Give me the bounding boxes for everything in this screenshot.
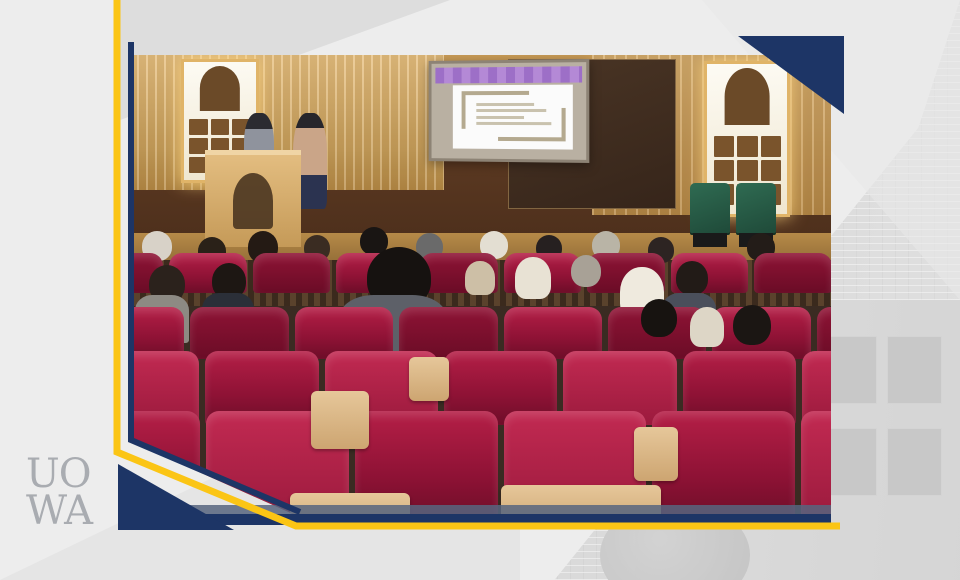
- banner-canvas: UO WA: [0, 0, 960, 580]
- presentation-slide-screen: [428, 59, 588, 163]
- green-chair-2: [736, 183, 776, 233]
- seat-writing-tray: [634, 427, 678, 481]
- slide-text-line: [476, 103, 534, 106]
- slide-app-toolbar: [435, 66, 581, 83]
- slide-text-line: [476, 116, 524, 119]
- auditorium-seat: [754, 253, 831, 293]
- audience-headscarf: [690, 307, 724, 347]
- slide-text-line: [476, 109, 546, 112]
- logo-line-2: WA: [26, 493, 110, 530]
- audience-head: [641, 299, 677, 337]
- audience-head: [733, 305, 771, 345]
- slide-frame-top-left: [462, 92, 466, 129]
- podium-university-emblem: [233, 173, 273, 229]
- audience-headscarf: [465, 261, 495, 295]
- navy-bar: [128, 514, 831, 525]
- uowa-logo: UO WA: [26, 456, 110, 532]
- auditorium-seat: [253, 253, 331, 293]
- calligraphy-dome: [725, 68, 770, 125]
- audience-headscarf: [515, 257, 551, 299]
- green-chair-1: [690, 183, 730, 233]
- slide-frame-bottom-right: [561, 108, 565, 142]
- wooden-podium-with-emblem: [205, 150, 301, 247]
- slide-text-line: [476, 122, 551, 125]
- audience-head: [676, 261, 708, 295]
- slide-document-page: [452, 85, 573, 150]
- photo-inner: [128, 55, 831, 525]
- auditorium-presentation-photo: [128, 55, 831, 525]
- calligraphy-dome: [200, 66, 240, 111]
- seat-writing-tray: [311, 391, 369, 449]
- audience-head: [571, 255, 601, 287]
- seat-writing-tray: [409, 357, 449, 401]
